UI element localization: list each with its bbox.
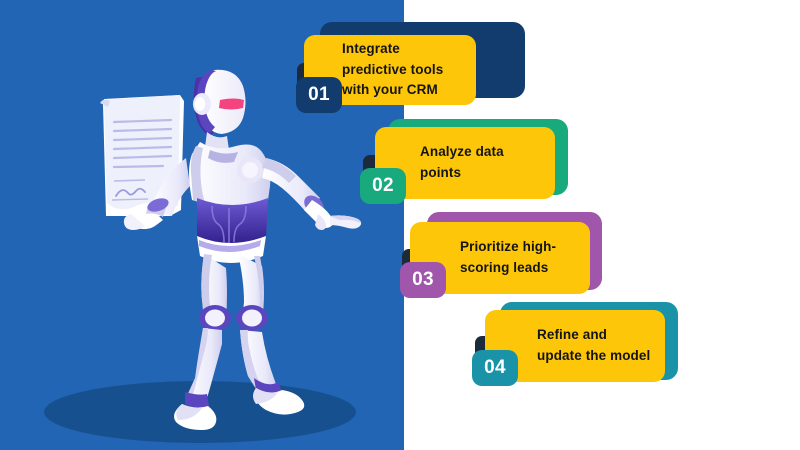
step-card-01-number-badge: 01 xyxy=(296,77,342,113)
step-card-stack: Integrate predictive tools with your CRM… xyxy=(0,0,800,450)
step-card-02-text: Analyze data points xyxy=(420,142,504,183)
step-card-03-text: Prioritize high- scoring leads xyxy=(460,237,556,278)
step-card-01-text: Integrate predictive tools with your CRM xyxy=(342,39,443,101)
step-card-03-number: 03 xyxy=(412,269,434,291)
step-card-03-number-badge: 03 xyxy=(400,262,446,298)
step-card-04-text: Refine and update the model xyxy=(537,325,650,366)
step-card-02-number: 02 xyxy=(372,175,394,197)
step-card-01-number: 01 xyxy=(308,84,330,106)
infographic-canvas: Integrate predictive tools with your CRM… xyxy=(0,0,800,450)
step-card-04-number-badge: 04 xyxy=(472,350,518,386)
step-card-02-number-badge: 02 xyxy=(360,168,406,204)
step-card-04-number: 04 xyxy=(484,357,506,379)
